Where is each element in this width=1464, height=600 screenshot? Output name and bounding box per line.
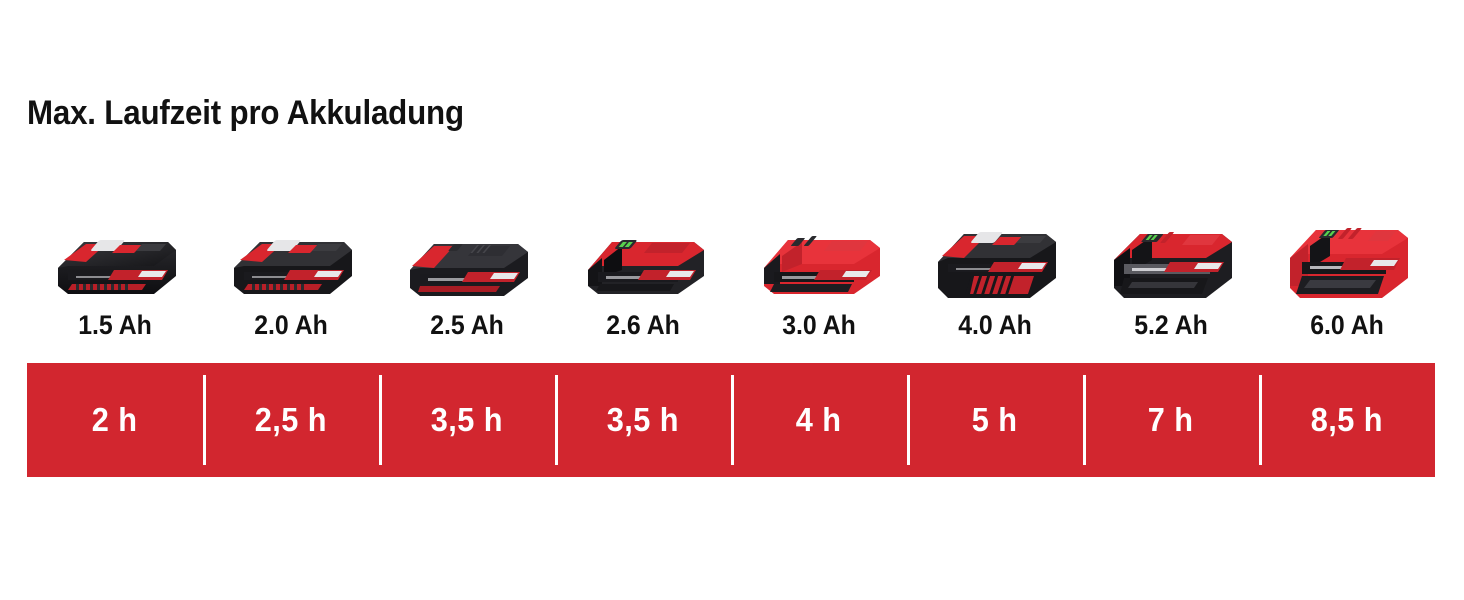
battery-cell: 2.5 Ah: [379, 190, 555, 340]
battery-pack-icon: [924, 210, 1066, 306]
runtime-bar: 2 h 2,5 h 3,5 h 3,5 h 4 h 5 h 7 h 8,5 h: [27, 363, 1435, 477]
battery-cell: 5.2 Ah: [1083, 190, 1259, 340]
battery-pack-icon: [396, 210, 538, 306]
battery-capacity-label: 2.5 Ah: [430, 310, 504, 340]
runtime-cell: 8,5 h: [1259, 363, 1435, 477]
battery-cell: 2.0 Ah: [203, 190, 379, 340]
runtime-value: 2,5 h: [255, 402, 327, 438]
runtime-cell: 2,5 h: [203, 363, 379, 477]
battery-capacity-label: 2.0 Ah: [254, 310, 328, 340]
page-title: Max. Laufzeit pro Akkuladung: [27, 93, 464, 133]
battery-pack-icon: [1276, 210, 1418, 306]
runtime-value: 4 h: [796, 402, 842, 438]
runtime-value: 7 h: [1148, 402, 1194, 438]
battery-pack-icon: [1100, 210, 1242, 306]
battery-pack-icon: [220, 210, 362, 306]
battery-pack-icon: [572, 210, 714, 306]
battery-capacity-label: 2.6 Ah: [606, 310, 680, 340]
runtime-value: 3,5 h: [607, 402, 679, 438]
battery-cell: 1.5 Ah: [27, 190, 203, 340]
runtime-value: 2 h: [92, 402, 138, 438]
runtime-value: 3,5 h: [431, 402, 503, 438]
battery-cell: 3.0 Ah: [731, 190, 907, 340]
runtime-cell: 7 h: [1083, 363, 1259, 477]
runtime-cell: 4 h: [731, 363, 907, 477]
battery-cell: 2.6 Ah: [555, 190, 731, 340]
runtime-infographic: Max. Laufzeit pro Akkuladung: [0, 0, 1464, 600]
battery-capacity-label: 1.5 Ah: [78, 310, 152, 340]
runtime-cell: 3,5 h: [555, 363, 731, 477]
runtime-cell: 5 h: [907, 363, 1083, 477]
runtime-cell: 3,5 h: [379, 363, 555, 477]
battery-capacity-label: 4.0 Ah: [958, 310, 1032, 340]
battery-cell: 6.0 Ah: [1259, 190, 1435, 340]
battery-capacity-label: 6.0 Ah: [1310, 310, 1384, 340]
runtime-cell: 2 h: [27, 363, 203, 477]
runtime-value: 5 h: [972, 402, 1018, 438]
battery-cell: 4.0 Ah: [907, 190, 1083, 340]
battery-capacity-label: 3.0 Ah: [782, 310, 856, 340]
runtime-value: 8,5 h: [1311, 402, 1383, 438]
battery-row: 1.5 Ah: [27, 190, 1435, 340]
battery-capacity-label: 5.2 Ah: [1134, 310, 1208, 340]
battery-pack-icon: [748, 210, 890, 306]
battery-pack-icon: [44, 210, 186, 306]
